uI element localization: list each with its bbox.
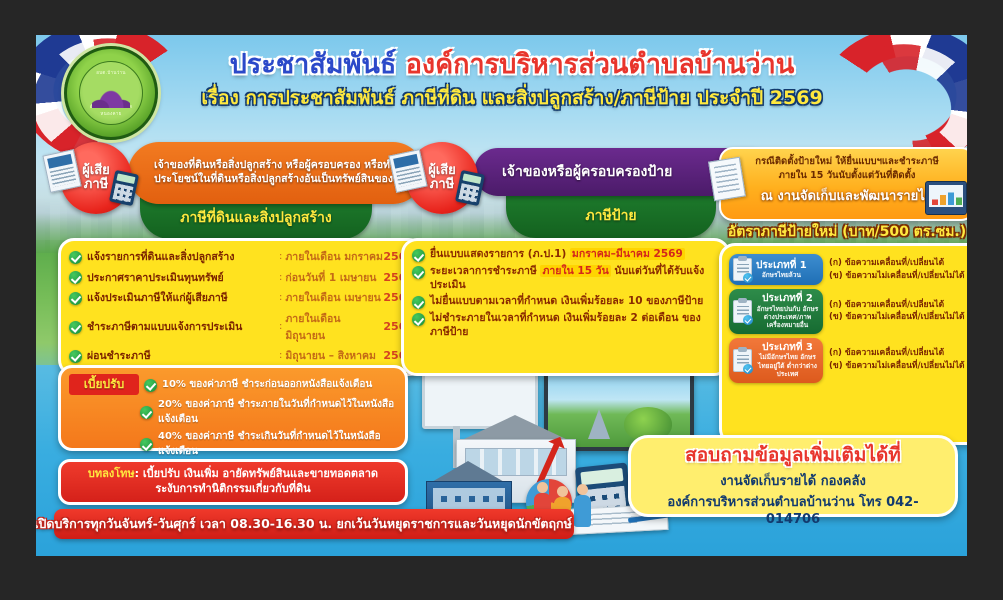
schedule-period: ภายในเดือน มิถุนายน bbox=[285, 310, 383, 344]
law-text-1: : เบี้ยปรับ เงินเพิ่ม อายัดทรัพย์สินและข… bbox=[135, 467, 378, 480]
seal-bottom-text: อำเภอท่าบ่อ จังหวัดหนองคาย bbox=[80, 103, 142, 117]
check-icon bbox=[69, 321, 82, 334]
screenshot-canvas: อบต.บ้านว่าน อำเภอท่าบ่อ จังหวัดหนองคาย … bbox=[0, 0, 1003, 600]
rule-text-main: ไม่ยื่นแบบตามเวลาที่กำหนด เงินเพิ่มร้อยล… bbox=[430, 295, 703, 307]
rate-category-row: ประเภทที่ 1อักษรไทยล้วน(ก) ข้อความเคลื่อ… bbox=[729, 254, 967, 285]
sign-tax-rules-list: ยื่นแบบแสดงรายการ (ภ.ป.1) มกราคม–มีนาคม … bbox=[412, 248, 719, 340]
poster-title-block: ประชาสัมพันธ์ องค์การบริหารส่วนตำบลบ้านว… bbox=[162, 49, 862, 113]
taxpayer-sign-footer: ภาษีป้าย bbox=[506, 194, 716, 238]
note-line-1: กรณีติดตั้งป้ายใหม่ ให้ยื่นแบบฯและชำระภา… bbox=[729, 155, 965, 169]
penalty-row: 40% ของค่าภาษี ชำระเกินวันที่กำหนดไว้ในห… bbox=[69, 429, 397, 459]
rule-text-main: ระยะเวลาการชำระภาษี bbox=[430, 265, 540, 277]
rate-table-body: ประเภทที่ 1อักษรไทยล้วน(ก) ข้อความเคลื่อ… bbox=[729, 254, 967, 383]
taxpayer-land-description-pill: เจ้าของที่ดินหรือสิ่งปลูกสร้าง หรือผู้คร… bbox=[128, 142, 424, 204]
check-icon bbox=[144, 379, 157, 392]
rate-category-sub: อักษรไทยล้วน bbox=[756, 271, 807, 279]
clipboard-icon bbox=[733, 349, 752, 372]
check-icon bbox=[140, 406, 153, 419]
schedule-label: ชำระภาษีตามแบบแจ้งการประเมิน bbox=[87, 318, 279, 335]
penalty-row: เบี้ยปรับ10% ของค่าภาษี ชำระก่อนออกหนังส… bbox=[69, 374, 397, 395]
schedule-separator: : bbox=[279, 292, 282, 303]
rate-category-tag: ประเภทที่ 3ไม่มีอักษรไทย อักษรไทยอยู่ใต้… bbox=[729, 338, 823, 383]
schedule-label: แจ้งประเมินภาษีให้แก่ผู้เสียภาษี bbox=[87, 289, 279, 306]
taxpayer-land-badge-line1: ผู้เสีย bbox=[82, 164, 110, 178]
schedule-separator: : bbox=[279, 350, 282, 361]
schedule-separator: : bbox=[279, 321, 282, 332]
check-icon bbox=[69, 251, 82, 264]
check-icon bbox=[412, 313, 425, 326]
rate-condition: (ก) ข้อความเคลื่อนที่/เปลี่ยนได้ bbox=[829, 347, 967, 360]
schedule-period: มิถุนายน – สิงหาคม bbox=[285, 347, 383, 364]
check-icon bbox=[69, 271, 82, 284]
schedule-separator: : bbox=[279, 251, 282, 262]
title-main-blue: ประชาสัมพันธ์ bbox=[230, 49, 397, 80]
rate-category-sub: อักษรไทยปนกับ อักษรต่างประเทศ/ภาพ เครื่อ… bbox=[756, 305, 819, 330]
check-badge-icon bbox=[743, 273, 753, 283]
sign-rule-row: ไม่ชำระภายในเวลาที่กำหนด เงินเพิ่มร้อยละ… bbox=[412, 312, 719, 339]
schedule-period: ก่อนวันที่ 1 เมษายน bbox=[285, 269, 383, 286]
check-icon bbox=[69, 292, 82, 305]
sign-rule-text: ไม่ยื่นแบบตามเวลาที่กำหนด เงินเพิ่มร้อยล… bbox=[430, 295, 703, 309]
schedule-period: ภายในเดือน มกราคม bbox=[285, 248, 383, 265]
taxpayer-sign-badge-line2: ภาษี bbox=[430, 178, 454, 192]
legal-punishment-panel: บทลงโทษ: เบี้ยปรับ เงินเพิ่ม อายัดทรัพย์… bbox=[58, 459, 408, 505]
page-title: ประชาสัมพันธ์ องค์การบริหารส่วนตำบลบ้านว… bbox=[162, 49, 862, 80]
rate-category-row: ประเภทที่ 3ไม่มีอักษรไทย อักษรไทยอยู่ใต้… bbox=[729, 338, 967, 383]
land-schedule-row: ประกาศราคาประเมินทุนทรัพย์:ก่อนวันที่ 1 … bbox=[69, 269, 414, 286]
document-icon bbox=[708, 157, 746, 202]
land-tax-schedule-list: แจ้งรายการที่ดินและสิ่งปลูกสร้าง:ภายในเด… bbox=[69, 248, 414, 364]
check-badge-icon bbox=[743, 364, 753, 374]
penalty-text: 10% ของค่าภาษี ชำระก่อนออกหนังสือแจ้งเตื… bbox=[162, 377, 372, 392]
rate-condition: (ข) ข้อความไม่เคลื่อนที่/เปลี่ยนไม่ได้ bbox=[829, 360, 967, 373]
sign-rule-row: ไม่ยื่นแบบตามเวลาที่กำหนด เงินเพิ่มร้อยล… bbox=[412, 295, 719, 309]
contact-panel: สอบถามข้อมูลเพิ่มเติมได้ที่ งานจัดเก็บรา… bbox=[628, 435, 958, 517]
taxpayer-banner-land: เจ้าของที่ดินหรือสิ่งปลูกสร้าง หรือผู้คร… bbox=[60, 142, 390, 242]
law-line-2: ระงับการทำนิติกรรมเกี่ยวกับที่ดิน bbox=[69, 482, 397, 497]
check-badge-icon bbox=[743, 315, 753, 325]
sign-tax-rules-panel: ยื่นแบบแสดงรายการ (ภ.ป.1) มกราคม–มีนาคม … bbox=[401, 238, 730, 376]
rate-condition: (ข) ข้อความไม่เคลื่อนที่/เปลี่ยนไม่ได้ bbox=[829, 311, 967, 324]
service-hours-bar: เปิดบริการทุกวันจันทร์-วันศุกร์ เวลา 08.… bbox=[58, 509, 548, 539]
sign-rule-row: ยื่นแบบแสดงรายการ (ภ.ป.1) มกราคม–มีนาคม … bbox=[412, 248, 719, 262]
taxpayer-land-badge-line2: ภาษี bbox=[84, 178, 108, 192]
penalty-panel: เบี้ยปรับ10% ของค่าภาษี ชำระก่อนออกหนังส… bbox=[58, 365, 408, 451]
organization-seal-logo: อบต.บ้านว่าน อำเภอท่าบ่อ จังหวัดหนองคาย bbox=[64, 46, 158, 140]
law-line-1: บทลงโทษ: เบี้ยปรับ เงินเพิ่ม อายัดทรัพย์… bbox=[69, 467, 397, 482]
taxpayer-sign-badge-line1: ผู้เสีย bbox=[428, 164, 456, 178]
land-schedule-row: ผ่อนชำระภาษี:มิถุนายน – สิงหาคม2569 bbox=[69, 347, 414, 364]
rule-text-main: ยื่นแบบแสดงรายการ (ภ.ป.1) bbox=[430, 248, 570, 260]
clipboard-icon bbox=[733, 258, 752, 281]
calculator-icon bbox=[109, 170, 139, 206]
check-icon bbox=[412, 266, 425, 279]
sign-rule-text: ระยะเวลาการชำระภาษี ภายใน 15 วัน นับแต่ว… bbox=[430, 265, 719, 292]
taxpayer-banner-sign: เจ้าของหรือผู้ครอบครองป้าย ภาษีป้าย ผู้เ… bbox=[406, 142, 736, 242]
rate-condition: (ก) ข้อความเคลื่อนที่/เปลี่ยนได้ bbox=[829, 257, 967, 270]
contact-line-2: องค์การบริหารส่วนตำบลบ้านว่าน โทร 042-01… bbox=[641, 491, 945, 527]
rate-condition: (ข) ข้อความไม่เคลื่อนที่/เปลี่ยนไม่ได้ bbox=[829, 270, 967, 283]
land-schedule-row: แจ้งประเมินภาษีให้แก่ผู้เสียภาษี:ภายในเด… bbox=[69, 289, 414, 306]
penalty-text: 20% ของค่าภาษี ชำระภายในวันที่กำหนดไว้ใน… bbox=[158, 397, 397, 427]
poster: อบต.บ้านว่าน อำเภอท่าบ่อ จังหวัดหนองคาย … bbox=[36, 35, 967, 556]
taxpayer-land-description: เจ้าของที่ดินหรือสิ่งปลูกสร้าง หรือผู้คร… bbox=[154, 159, 414, 187]
rate-condition-lines: (ก) ข้อความเคลื่อนที่/เปลี่ยนได้(ข) ข้อค… bbox=[829, 299, 967, 325]
rule-text-main: ไม่ชำระภายในเวลาที่กำหนด เงินเพิ่มร้อยละ… bbox=[430, 312, 701, 338]
schedule-label: ผ่อนชำระภาษี bbox=[87, 347, 279, 364]
schedule-separator: : bbox=[279, 272, 282, 283]
schedule-label: แจ้งรายการที่ดินและสิ่งปลูกสร้าง bbox=[87, 248, 279, 265]
penalty-row: 20% ของค่าภาษี ชำระภายในวันที่กำหนดไว้ใน… bbox=[69, 397, 397, 427]
rate-condition-lines: (ก) ข้อความเคลื่อนที่/เปลี่ยนได้(ข) ข้อค… bbox=[829, 257, 967, 283]
sign-tax-rate-table: ประเภทที่ 1อักษรไทยล้วน(ก) ข้อความเคลื่อ… bbox=[719, 243, 967, 445]
rate-category-row: ประเภทที่ 2อักษรไทยปนกับ อักษรต่างประเทศ… bbox=[729, 289, 967, 334]
clipboard-icon bbox=[733, 300, 752, 323]
check-icon bbox=[412, 249, 425, 262]
sign-rule-text: ไม่ชำระภายในเวลาที่กำหนด เงินเพิ่มร้อยละ… bbox=[430, 312, 719, 339]
rule-highlight: มกราคม–มีนาคม 2569 bbox=[570, 248, 685, 260]
rate-category-sub: ไม่มีอักษรไทย อักษรไทยอยู่ใต้ ต่ำกว่าต่า… bbox=[756, 353, 819, 378]
schedule-label: ประกาศราคาประเมินทุนทรัพย์ bbox=[87, 269, 279, 286]
sign-rule-row: ระยะเวลาการชำระภาษี ภายใน 15 วัน นับแต่ว… bbox=[412, 265, 719, 292]
check-icon bbox=[69, 350, 82, 363]
rate-condition-lines: (ก) ข้อความเคลื่อนที่/เปลี่ยนได้(ข) ข้อค… bbox=[829, 347, 967, 373]
check-icon bbox=[412, 296, 425, 309]
rate-table-header: อัตราภาษีป้ายใหม่ (บาท/500 ตร.ซม.) bbox=[719, 221, 967, 243]
rate-category-tag: ประเภทที่ 1อักษรไทยล้วน bbox=[729, 254, 823, 285]
law-tag: บทลงโทษ bbox=[88, 467, 135, 480]
new-sign-installation-note: กรณีติดตั้งป้ายใหม่ ให้ยื่นแบบฯและชำระภา… bbox=[719, 147, 967, 221]
taxpayer-sign-footer-label: ภาษีป้าย bbox=[585, 205, 636, 227]
contact-line-1: งานจัดเก็บรายได้ กองคลัง bbox=[641, 470, 945, 491]
bar-chart-monitor-icon bbox=[925, 181, 967, 215]
rate-category-body: (ก) ข้อความเคลื่อนที่/เปลี่ยนได้(ข) ข้อค… bbox=[823, 289, 967, 334]
rule-highlight: ภายใน 15 วัน bbox=[540, 265, 610, 277]
rate-category-name: ประเภทที่ 2 bbox=[756, 293, 819, 305]
land-tax-schedule-panel: แจ้งรายการที่ดินและสิ่งปลูกสร้าง:ภายในเด… bbox=[58, 238, 425, 376]
rate-category-body: (ก) ข้อความเคลื่อนที่/เปลี่ยนได้(ข) ข้อค… bbox=[823, 338, 967, 383]
page-subtitle: เรื่อง การประชาสัมพันธ์ ภาษีที่ดิน และสิ… bbox=[162, 83, 862, 113]
rate-category-body: (ก) ข้อความเคลื่อนที่/เปลี่ยนได้(ข) ข้อค… bbox=[823, 254, 967, 285]
taxpayer-land-footer-label: ภาษีที่ดินและสิ่งปลูกสร้าง bbox=[180, 207, 331, 229]
contact-heading: สอบถามข้อมูลเพิ่มเติมได้ที่ bbox=[641, 444, 945, 467]
penalty-text: 40% ของค่าภาษี ชำระเกินวันที่กำหนดไว้ในห… bbox=[158, 429, 397, 459]
rate-condition: (ก) ข้อความเคลื่อนที่/เปลี่ยนได้ bbox=[829, 299, 967, 312]
sign-rule-text: ยื่นแบบแสดงรายการ (ภ.ป.1) มกราคม–มีนาคม … bbox=[430, 248, 685, 262]
penalty-fine-tag: เบี้ยปรับ bbox=[69, 374, 139, 395]
schedule-period: ภายในเดือน เมษายน bbox=[285, 289, 383, 306]
check-icon bbox=[140, 438, 153, 451]
rate-category-tag: ประเภทที่ 2อักษรไทยปนกับ อักษรต่างประเทศ… bbox=[729, 289, 823, 334]
land-schedule-row: แจ้งรายการที่ดินและสิ่งปลูกสร้าง:ภายในเด… bbox=[69, 248, 414, 265]
title-main-red: องค์การบริหารส่วนตำบลบ้านว่าน bbox=[406, 49, 795, 80]
rate-category-name: ประเภทที่ 1 bbox=[756, 260, 807, 272]
rate-category-name: ประเภทที่ 3 bbox=[756, 342, 819, 354]
land-schedule-row: ชำระภาษีตามแบบแจ้งการประเมิน:ภายในเดือน … bbox=[69, 310, 414, 344]
service-hours-text: เปิดบริการทุกวันจันทร์-วันศุกร์ เวลา 08.… bbox=[36, 514, 572, 534]
calculator-icon bbox=[455, 170, 485, 206]
taxpayer-sign-description: เจ้าของหรือผู้ครอบครองป้าย bbox=[502, 163, 672, 181]
